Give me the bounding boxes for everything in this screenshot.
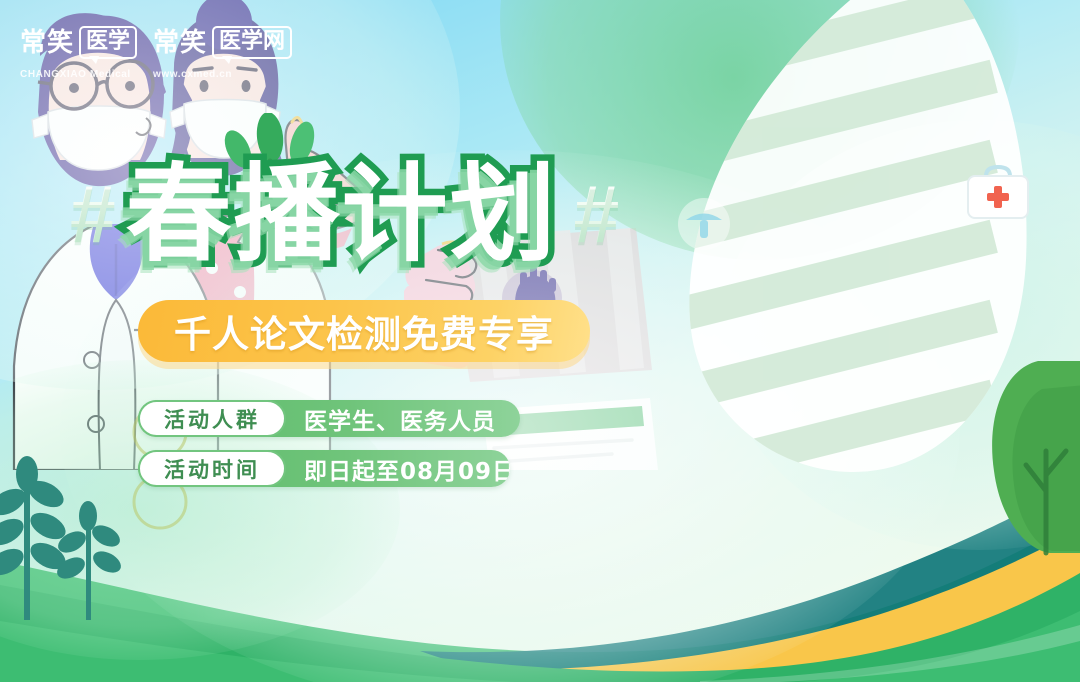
brand-logo[interactable]: 常笑 医学 CHANGXIAO Medical 常笑 医学网 www.cxmed… xyxy=(20,26,292,80)
logo-site-badge: 医学网 xyxy=(212,26,292,59)
info-row-time: 活动时间 即日起至08月09日 xyxy=(138,450,510,487)
info-value-time: 即日起至08月09日 xyxy=(286,450,510,487)
headline-title-wrap: 春播计划 xyxy=(126,159,558,270)
bottom-wave-decoration xyxy=(0,475,1080,682)
logo-site-url: www.cxmed.cn xyxy=(153,69,292,80)
info-label-time: 活动时间 xyxy=(138,450,286,487)
subtitle-pill: 千人论文检测免费专享 xyxy=(138,300,590,362)
logo-brand-tagline: CHANGXIAO Medical xyxy=(20,69,137,80)
hash-left-icon: # xyxy=(60,174,126,256)
logo-site-row: 常笑 医学网 xyxy=(153,26,292,59)
logo-brand-badge: 医学 xyxy=(79,26,137,59)
logo-brand-name: 常笑 xyxy=(20,30,74,56)
logo-site-name: 常笑 xyxy=(153,30,207,56)
page-title: 春播计划 xyxy=(126,159,558,270)
subtitle-text: 千人论文检测免费专享 xyxy=(174,304,554,358)
info-value-audience: 医学生、医务人员 xyxy=(286,400,520,437)
hash-right-icon: # xyxy=(564,174,630,256)
first-aid-kit-icon xyxy=(960,160,1036,230)
info-label-audience: 活动人群 xyxy=(138,400,286,437)
logo-brand-unit: 常笑 医学 CHANGXIAO Medical xyxy=(20,26,137,80)
logo-site-unit: 常笑 医学网 www.cxmed.cn xyxy=(153,26,292,80)
headline-block: # 春播计划 # xyxy=(60,150,629,280)
info-row-audience: 活动人群 医学生、医务人员 xyxy=(138,400,520,437)
logo-brand-row: 常笑 医学 xyxy=(20,26,137,59)
promo-banner: 常笑 医学 CHANGXIAO Medical 常笑 医学网 www.cxmed… xyxy=(0,0,1080,682)
